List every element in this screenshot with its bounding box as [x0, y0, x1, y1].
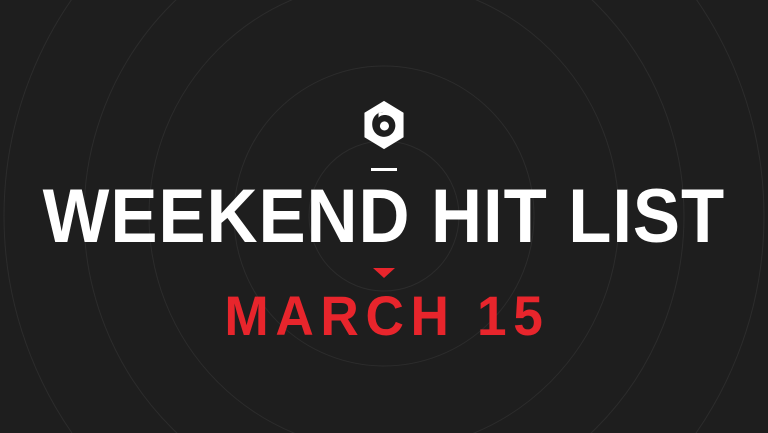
page-title: WEEKEND HIT LIST: [43, 187, 725, 246]
hexagon-b-logo-icon: [361, 100, 407, 150]
white-rule-divider: [371, 168, 397, 171]
date-label: MARCH 15: [218, 294, 550, 339]
poster-canvas: WEEKEND HIT LIST MARCH 15: [0, 0, 768, 433]
red-triangle-down-icon: [373, 268, 395, 278]
poster-content: WEEKEND HIT LIST MARCH 15: [0, 0, 768, 433]
